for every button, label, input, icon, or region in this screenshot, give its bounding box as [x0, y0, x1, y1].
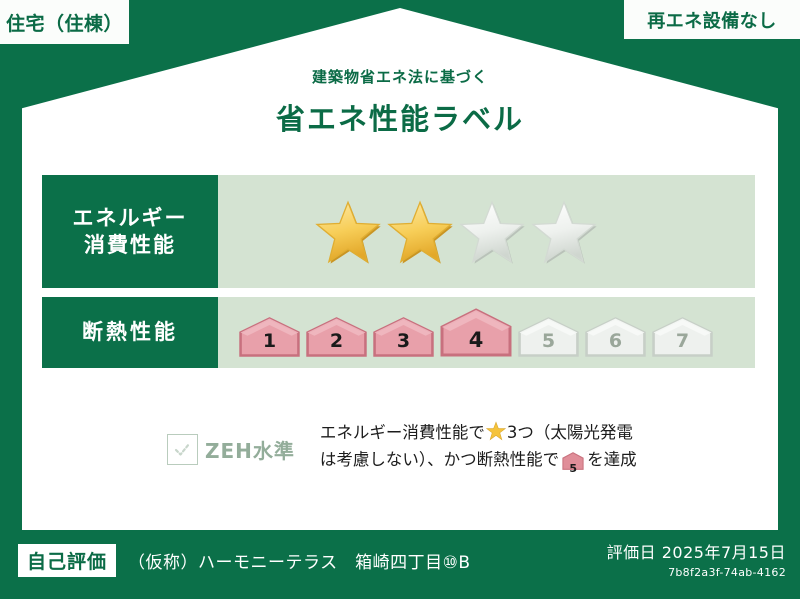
check-icon: [173, 440, 192, 459]
footer-right: 評価日 2025年7月15日 7b8f2a3f-74ab-4162: [607, 539, 786, 579]
insulation-performance-row: 断熱性能 1234567: [42, 297, 755, 368]
badge-renewable-equipment: 再エネ設備なし: [624, 0, 800, 39]
zeh-standard-mark: ZEH水準: [167, 434, 295, 465]
zeh-desc-line1-b: 3つ（太陽光発電: [507, 423, 633, 442]
insulation-performance-label: 断熱性能: [42, 297, 218, 368]
title-block: 建築物省エネ法に基づく 省エネ性能ラベル: [0, 66, 800, 138]
inline-grade-number: 5: [562, 460, 584, 478]
star-rating: [314, 199, 598, 265]
house-grade-icon: [584, 316, 647, 358]
insulation-performance-value: 1234567: [218, 297, 755, 368]
insulation-grade-scale: 1234567: [238, 307, 714, 358]
star-filled-icon: [386, 199, 454, 265]
inline-grade-marker: 5: [562, 452, 584, 479]
title-subtitle: 建築物省エネ法に基づく: [0, 66, 800, 87]
building-name: （仮称）ハーモニーテラス 箱崎四丁目⑩B: [128, 548, 471, 573]
insulation-grade-1: 1: [238, 316, 301, 358]
energy-label-line1: エネルギー: [73, 205, 188, 232]
star-empty-icon: [458, 199, 526, 265]
zeh-note-area: ZEH水準 エネルギー消費性能で3つ（太陽光発電 は考慮しない）、かつ断熱性能で…: [42, 420, 755, 478]
evaluation-id: 7b8f2a3f-74ab-4162: [607, 566, 786, 579]
evaluation-date: 評価日 2025年7月15日: [607, 539, 786, 563]
zeh-standard-label: ZEH水準: [205, 435, 295, 464]
star-icon: [486, 421, 506, 441]
insulation-grade-7: 7: [651, 316, 714, 358]
checkbox-icon: [167, 434, 198, 465]
energy-performance-row: エネルギー 消費性能: [42, 175, 755, 288]
star-filled-icon: [314, 199, 382, 265]
page-title: 省エネ性能ラベル: [0, 96, 800, 138]
insulation-grade-4: 4: [439, 307, 513, 358]
house-grade-icon: [517, 316, 580, 358]
energy-performance-value: [218, 175, 755, 288]
self-evaluation-badge: 自己評価: [18, 544, 116, 577]
house-grade-icon: [238, 316, 301, 358]
insulation-grade-3: 3: [372, 316, 435, 358]
house-grade-icon: [651, 316, 714, 358]
badge-dwelling-type: 住宅（住棟）: [0, 0, 129, 44]
zeh-desc-line2-a: は考慮しない）、かつ断熱性能で: [320, 450, 559, 469]
star-empty-icon: [530, 199, 598, 265]
footer-left: 自己評価 （仮称）ハーモニーテラス 箱崎四丁目⑩B: [18, 544, 471, 577]
zeh-description: エネルギー消費性能で3つ（太陽光発電 は考慮しない）、かつ断熱性能で5を達成: [320, 420, 637, 478]
house-grade-icon: [372, 316, 435, 358]
house-grade-icon: [305, 316, 368, 358]
insulation-grade-5: 5: [517, 316, 580, 358]
zeh-description-line1: エネルギー消費性能で3つ（太陽光発電: [320, 420, 637, 447]
energy-performance-label: エネルギー 消費性能: [42, 175, 218, 288]
zeh-desc-line2-b: を達成: [587, 450, 637, 469]
house-grade-icon: [439, 307, 513, 358]
footer-bar: 自己評価 （仮称）ハーモニーテラス 箱崎四丁目⑩B 評価日 2025年7月15日…: [0, 530, 800, 599]
insulation-grade-6: 6: [584, 316, 647, 358]
insulation-grade-2: 2: [305, 316, 368, 358]
zeh-description-line2: は考慮しない）、かつ断熱性能で5を達成: [320, 447, 637, 479]
energy-label-line2: 消費性能: [84, 232, 176, 259]
zeh-desc-line1-a: エネルギー消費性能で: [320, 423, 485, 442]
